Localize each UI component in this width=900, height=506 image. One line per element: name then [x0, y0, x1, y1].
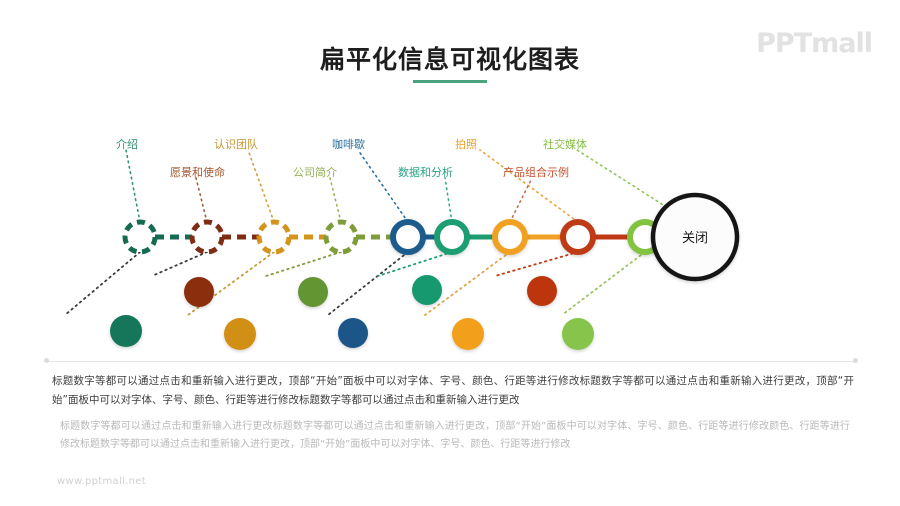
- slide-canvas: PPTmall 扁平化信息可视化图表: [0, 0, 900, 506]
- timeline-label-5[interactable]: 咖啡歇: [332, 136, 365, 152]
- timeline-ring-3: [259, 222, 289, 252]
- timeline-label-8[interactable]: 产品组合示例: [503, 164, 569, 180]
- timeline-label-9[interactable]: 社交媒体: [543, 136, 587, 152]
- body-paragraph-primary[interactable]: 标题数字等都可以通过点击和重新输入进行更改，顶部“开始”面板中可以对字体、字号、…: [52, 372, 854, 410]
- body-paragraph-secondary[interactable]: 标题数字等都可以通过点击和重新输入进行更改标题数字等都可以通过点击和重新输入进行…: [60, 418, 850, 454]
- divider-cap-right: [853, 358, 858, 363]
- leader-lines-mid: [196, 178, 532, 222]
- leader-lines-down: [65, 252, 645, 315]
- timeline-ring-1: [125, 222, 155, 252]
- timeline-end-label: 关闭: [682, 231, 708, 246]
- timeline-label-4[interactable]: 公司简介: [293, 164, 337, 180]
- timeline-ring-7: [495, 222, 525, 252]
- timeline-dot-8: [527, 276, 557, 306]
- timeline-dots: [110, 275, 594, 350]
- timeline-ring-5: [393, 222, 423, 252]
- timeline-label-7[interactable]: 拍照: [455, 136, 477, 152]
- timeline-dot-2: [184, 277, 214, 307]
- timeline-dot-5: [338, 318, 368, 348]
- timeline-ring-2: [192, 222, 222, 252]
- divider-cap-left: [44, 358, 49, 363]
- timeline-dot-7: [452, 318, 484, 350]
- timeline-label-2[interactable]: 愿景和使命: [170, 164, 225, 180]
- timeline-ring-8: [563, 222, 593, 252]
- page-title: 扁平化信息可视化图表: [0, 40, 900, 76]
- timeline-dot-1: [110, 315, 142, 347]
- timeline-rings: [125, 222, 660, 252]
- timeline-ring-6: [437, 222, 467, 252]
- title-underline-accent: [413, 80, 487, 83]
- timeline-dot-4: [298, 277, 328, 307]
- leader-lines-up: [126, 150, 690, 222]
- timeline-dot-6: [412, 275, 442, 305]
- footer-url: www.pptmall.net: [57, 476, 146, 487]
- timeline-label-6[interactable]: 数据和分析: [398, 164, 453, 180]
- timeline-ring-4: [326, 222, 356, 252]
- timeline-label-3[interactable]: 认识团队: [214, 136, 258, 152]
- timeline-dot-3: [224, 318, 256, 350]
- timeline-label-1[interactable]: 介绍: [116, 136, 138, 152]
- content-divider: [46, 361, 854, 362]
- timeline-dot-9: [562, 318, 594, 350]
